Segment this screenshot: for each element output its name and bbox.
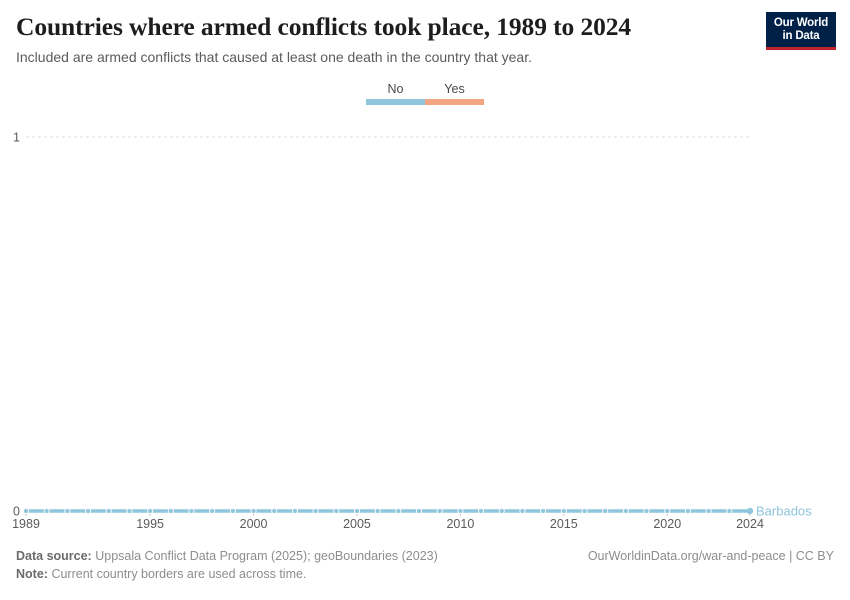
legend-item-no[interactable]: No [366, 82, 425, 105]
data-point[interactable] [747, 508, 752, 513]
data-point[interactable] [520, 508, 525, 513]
x-axis-tick-label: 2015 [550, 517, 578, 531]
footer-note: Note: Current country borders are used a… [16, 567, 306, 581]
data-point[interactable] [106, 508, 111, 513]
x-axis-tick-label: 2010 [446, 517, 474, 531]
legend-label-no: No [388, 82, 404, 96]
y-axis-labels: 01 [13, 131, 20, 519]
data-point[interactable] [272, 508, 277, 513]
chart-footer: Data source: Uppsala Conflict Data Progr… [16, 547, 836, 583]
y-axis-tick-label: 1 [13, 131, 20, 145]
owid-logo[interactable]: Our World in Data [766, 12, 836, 50]
data-point[interactable] [603, 508, 608, 513]
x-axis-tick-label: 2020 [653, 517, 681, 531]
legend-swatch-no [366, 99, 425, 105]
data-point[interactable] [665, 508, 670, 513]
data-point[interactable] [644, 508, 649, 513]
series-end-label[interactable]: Barbados [756, 504, 812, 519]
series-end-labels: Barbados [756, 504, 812, 519]
owid-logo-rule [766, 47, 836, 50]
data-point[interactable] [292, 508, 297, 513]
data-point[interactable] [127, 508, 132, 513]
chart-header: Countries where armed conflicts took pla… [16, 12, 756, 67]
series-end-marker[interactable] [747, 508, 753, 514]
data-point[interactable] [706, 508, 711, 513]
data-point[interactable] [189, 508, 194, 513]
footer-note-row: Note: Current country borders are used a… [16, 565, 836, 583]
chart-subtitle: Included are armed conflicts that caused… [16, 48, 756, 67]
data-point[interactable] [334, 508, 339, 513]
x-axis-tick-marks [26, 511, 750, 516]
legend-label-yes: Yes [444, 82, 464, 96]
data-point[interactable] [354, 508, 359, 513]
legend-item-yes[interactable]: Yes [425, 82, 484, 105]
data-point[interactable] [148, 508, 153, 513]
data-point[interactable] [85, 508, 90, 513]
footer-source-row: Data source: Uppsala Conflict Data Progr… [16, 547, 836, 565]
gridlines [26, 137, 752, 511]
x-axis-tick-label: 1989 [12, 517, 40, 531]
owid-logo-line2: in Data [766, 30, 836, 47]
footer-source-label: Data source: [16, 549, 92, 563]
data-point[interactable] [561, 508, 566, 513]
legend-swatch-yes [425, 99, 484, 105]
data-point[interactable] [437, 508, 442, 513]
data-point[interactable] [416, 508, 421, 513]
chart-legend: No Yes [0, 82, 850, 105]
data-point[interactable] [541, 508, 546, 513]
x-axis-tick-label: 2005 [343, 517, 371, 531]
y-axis-tick-label: 0 [13, 505, 20, 519]
data-point[interactable] [23, 508, 28, 513]
x-axis-tick-label: 2000 [240, 517, 268, 531]
x-axis-tick-label: 2024 [736, 517, 764, 531]
data-point[interactable] [499, 508, 504, 513]
footer-note-label: Note: [16, 567, 48, 581]
x-axis-labels: 19891995200020052010201520202024 [12, 517, 764, 531]
data-point[interactable] [313, 508, 318, 513]
page-title: Countries where armed conflicts took pla… [16, 12, 756, 42]
data-point[interactable] [44, 508, 49, 513]
data-point[interactable] [210, 508, 215, 513]
footer-source-text: Uppsala Conflict Data Program (2025); ge… [95, 549, 438, 563]
footer-source: Data source: Uppsala Conflict Data Progr… [16, 549, 438, 563]
footer-attribution[interactable]: OurWorldinData.org/war-and-peace | CC BY [588, 547, 834, 565]
data-point[interactable] [251, 508, 256, 513]
data-point[interactable] [478, 508, 483, 513]
data-point[interactable] [685, 508, 690, 513]
data-point[interactable] [623, 508, 628, 513]
data-point[interactable] [582, 508, 587, 513]
x-axis-tick-label: 1995 [136, 517, 164, 531]
data-point[interactable] [727, 508, 732, 513]
data-point[interactable] [230, 508, 235, 513]
data-point[interactable] [375, 508, 380, 513]
footer-note-text: Current country borders are used across … [51, 567, 306, 581]
data-point[interactable] [458, 508, 463, 513]
series-layer [23, 508, 753, 514]
data-point[interactable] [168, 508, 173, 513]
data-point[interactable] [65, 508, 70, 513]
data-point[interactable] [396, 508, 401, 513]
